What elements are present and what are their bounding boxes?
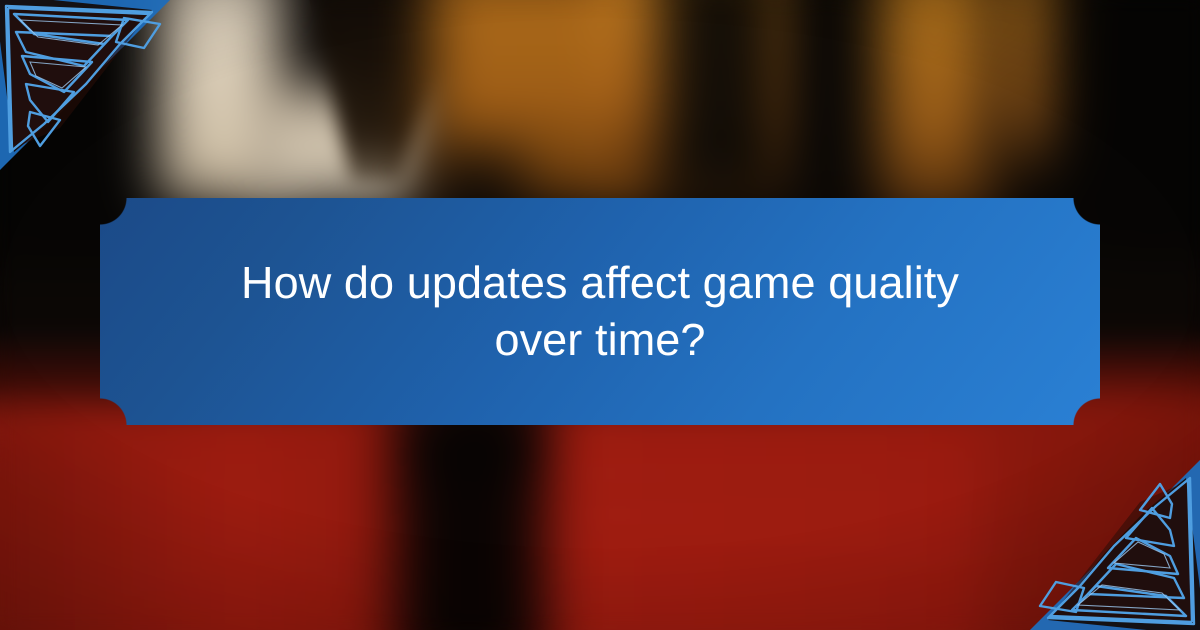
- headline-text: How do updates affect game quality over …: [220, 255, 980, 368]
- headline-banner: How do updates affect game quality over …: [100, 198, 1100, 425]
- quote-card: How do updates affect game quality over …: [0, 0, 1200, 630]
